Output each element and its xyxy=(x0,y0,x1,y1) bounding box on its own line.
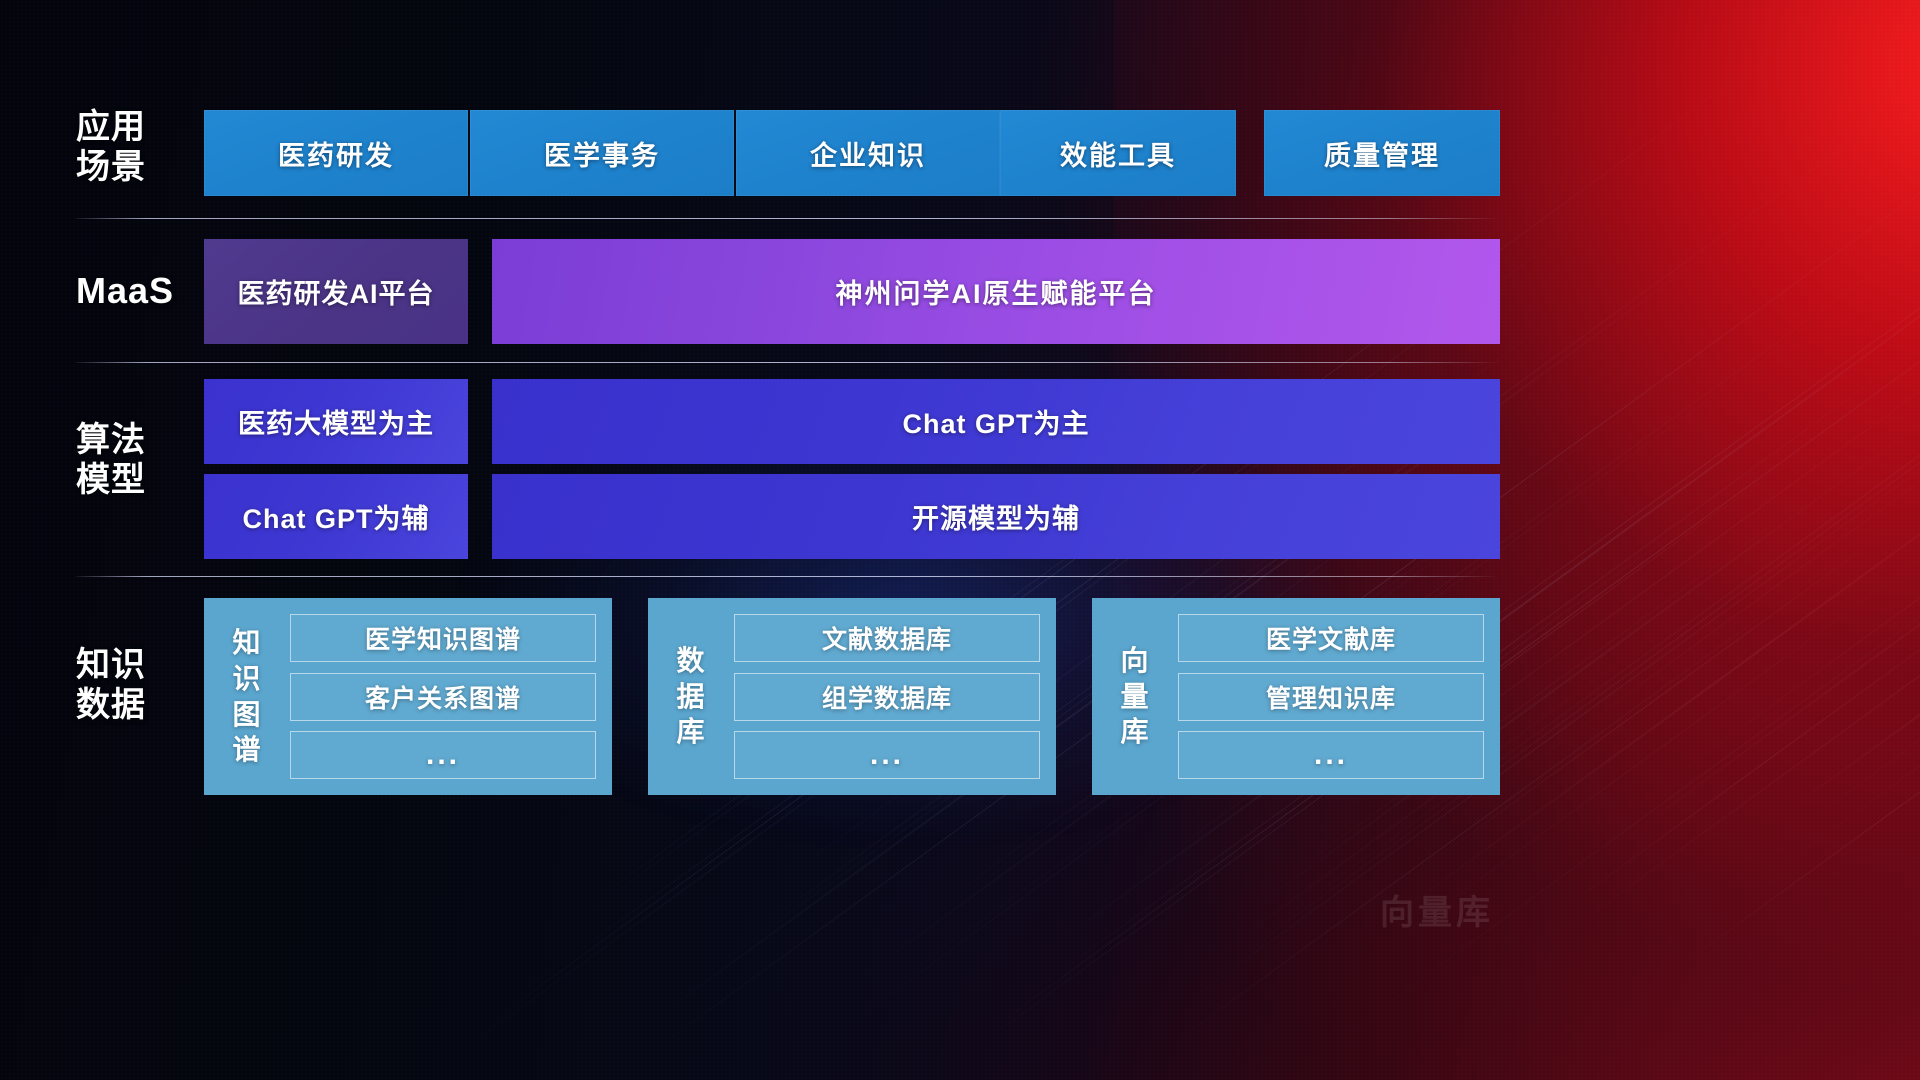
knowledge-panel-1-items: 医学知识图谱 客户关系图谱 ... xyxy=(290,598,612,795)
knowledge-item[interactable]: 组学数据库 xyxy=(734,673,1040,721)
app-scenario-box-1[interactable]: 医药研发 xyxy=(204,110,468,196)
algorithm-row2-right-box[interactable]: 开源模型为辅 xyxy=(492,474,1500,559)
knowledge-panel-3[interactable]: 向 量 库 医学文献库 管理知识库 ... xyxy=(1092,598,1500,795)
row-label-knowledge-line2: 数据 xyxy=(76,685,206,725)
knowledge-panel-2-items: 文献数据库 组学数据库 ... xyxy=(734,598,1056,795)
knowledge-panel-1-title-char-1: 识 xyxy=(232,661,261,697)
knowledge-panel-2-title-char-2: 库 xyxy=(676,714,705,750)
app-scenario-box-4[interactable]: 效能工具 xyxy=(1000,110,1236,196)
knowledge-panel-3-title: 向 量 库 xyxy=(1092,598,1178,795)
row-label-knowledge-line1: 知识 xyxy=(76,645,206,685)
row-label-application-line1: 应用 xyxy=(76,107,206,147)
slide-canvas: 应用 场景 医药研发 医学事务 企业知识 效能工具 质量管理 MaaS 医药研发… xyxy=(0,0,1920,1080)
knowledge-panel-2-title-char-1: 据 xyxy=(676,679,705,715)
knowledge-panel-1-title-char-0: 知 xyxy=(232,625,261,661)
algorithm-row2-left-box[interactable]: Chat GPT为辅 xyxy=(204,474,468,559)
row-label-algorithm-line2: 模型 xyxy=(76,460,206,500)
knowledge-item[interactable]: ... xyxy=(734,731,1040,779)
knowledge-panel-3-title-char-0: 向 xyxy=(1120,643,1149,679)
app-scenario-box-3[interactable]: 企业知识 xyxy=(736,110,1000,196)
knowledge-panel-2-title: 数 据 库 xyxy=(648,598,734,795)
maas-left-box[interactable]: 医药研发AI平台 xyxy=(204,239,468,344)
app-scenario-box-2[interactable]: 医学事务 xyxy=(470,110,734,196)
knowledge-panel-3-title-char-1: 量 xyxy=(1120,679,1149,715)
knowledge-panel-1[interactable]: 知 识 图 谱 医学知识图谱 客户关系图谱 ... xyxy=(204,598,612,795)
knowledge-item[interactable]: ... xyxy=(1178,731,1484,779)
algorithm-row1-right-box[interactable]: Chat GPT为主 xyxy=(492,379,1500,464)
knowledge-panel-3-title-char-2: 库 xyxy=(1120,714,1149,750)
row-label-knowledge: 知识 数据 xyxy=(76,645,206,725)
row-label-algorithm-line1: 算法 xyxy=(76,420,206,460)
row-label-application: 应用 场景 xyxy=(76,107,206,187)
knowledge-item[interactable]: 医学知识图谱 xyxy=(290,614,596,662)
knowledge-item[interactable]: 管理知识库 xyxy=(1178,673,1484,721)
knowledge-item[interactable]: 医学文献库 xyxy=(1178,614,1484,662)
app-scenario-box-5[interactable]: 质量管理 xyxy=(1264,110,1500,196)
knowledge-panel-2-title-char-0: 数 xyxy=(676,643,705,679)
row-label-application-line2: 场景 xyxy=(76,147,206,187)
knowledge-item[interactable]: 文献数据库 xyxy=(734,614,1040,662)
knowledge-panel-1-title-char-2: 图 xyxy=(232,697,261,733)
divider-algorithm-knowledge xyxy=(76,576,1500,577)
maas-right-box[interactable]: 神州问学AI原生赋能平台 xyxy=(492,239,1500,344)
knowledge-item[interactable]: 客户关系图谱 xyxy=(290,673,596,721)
knowledge-panel-1-title: 知 识 图 谱 xyxy=(204,598,290,795)
divider-maas-algorithm xyxy=(76,362,1500,363)
algorithm-row1-left-box[interactable]: 医药大模型为主 xyxy=(204,379,468,464)
knowledge-item[interactable]: ... xyxy=(290,731,596,779)
row-label-algorithm: 算法 模型 xyxy=(76,420,206,500)
watermark-text: 向量库 xyxy=(1380,885,1494,934)
knowledge-panel-2[interactable]: 数 据 库 文献数据库 组学数据库 ... xyxy=(648,598,1056,795)
knowledge-panel-3-items: 医学文献库 管理知识库 ... xyxy=(1178,598,1500,795)
knowledge-panel-1-title-char-3: 谱 xyxy=(232,732,261,768)
divider-application-maas xyxy=(76,218,1500,219)
